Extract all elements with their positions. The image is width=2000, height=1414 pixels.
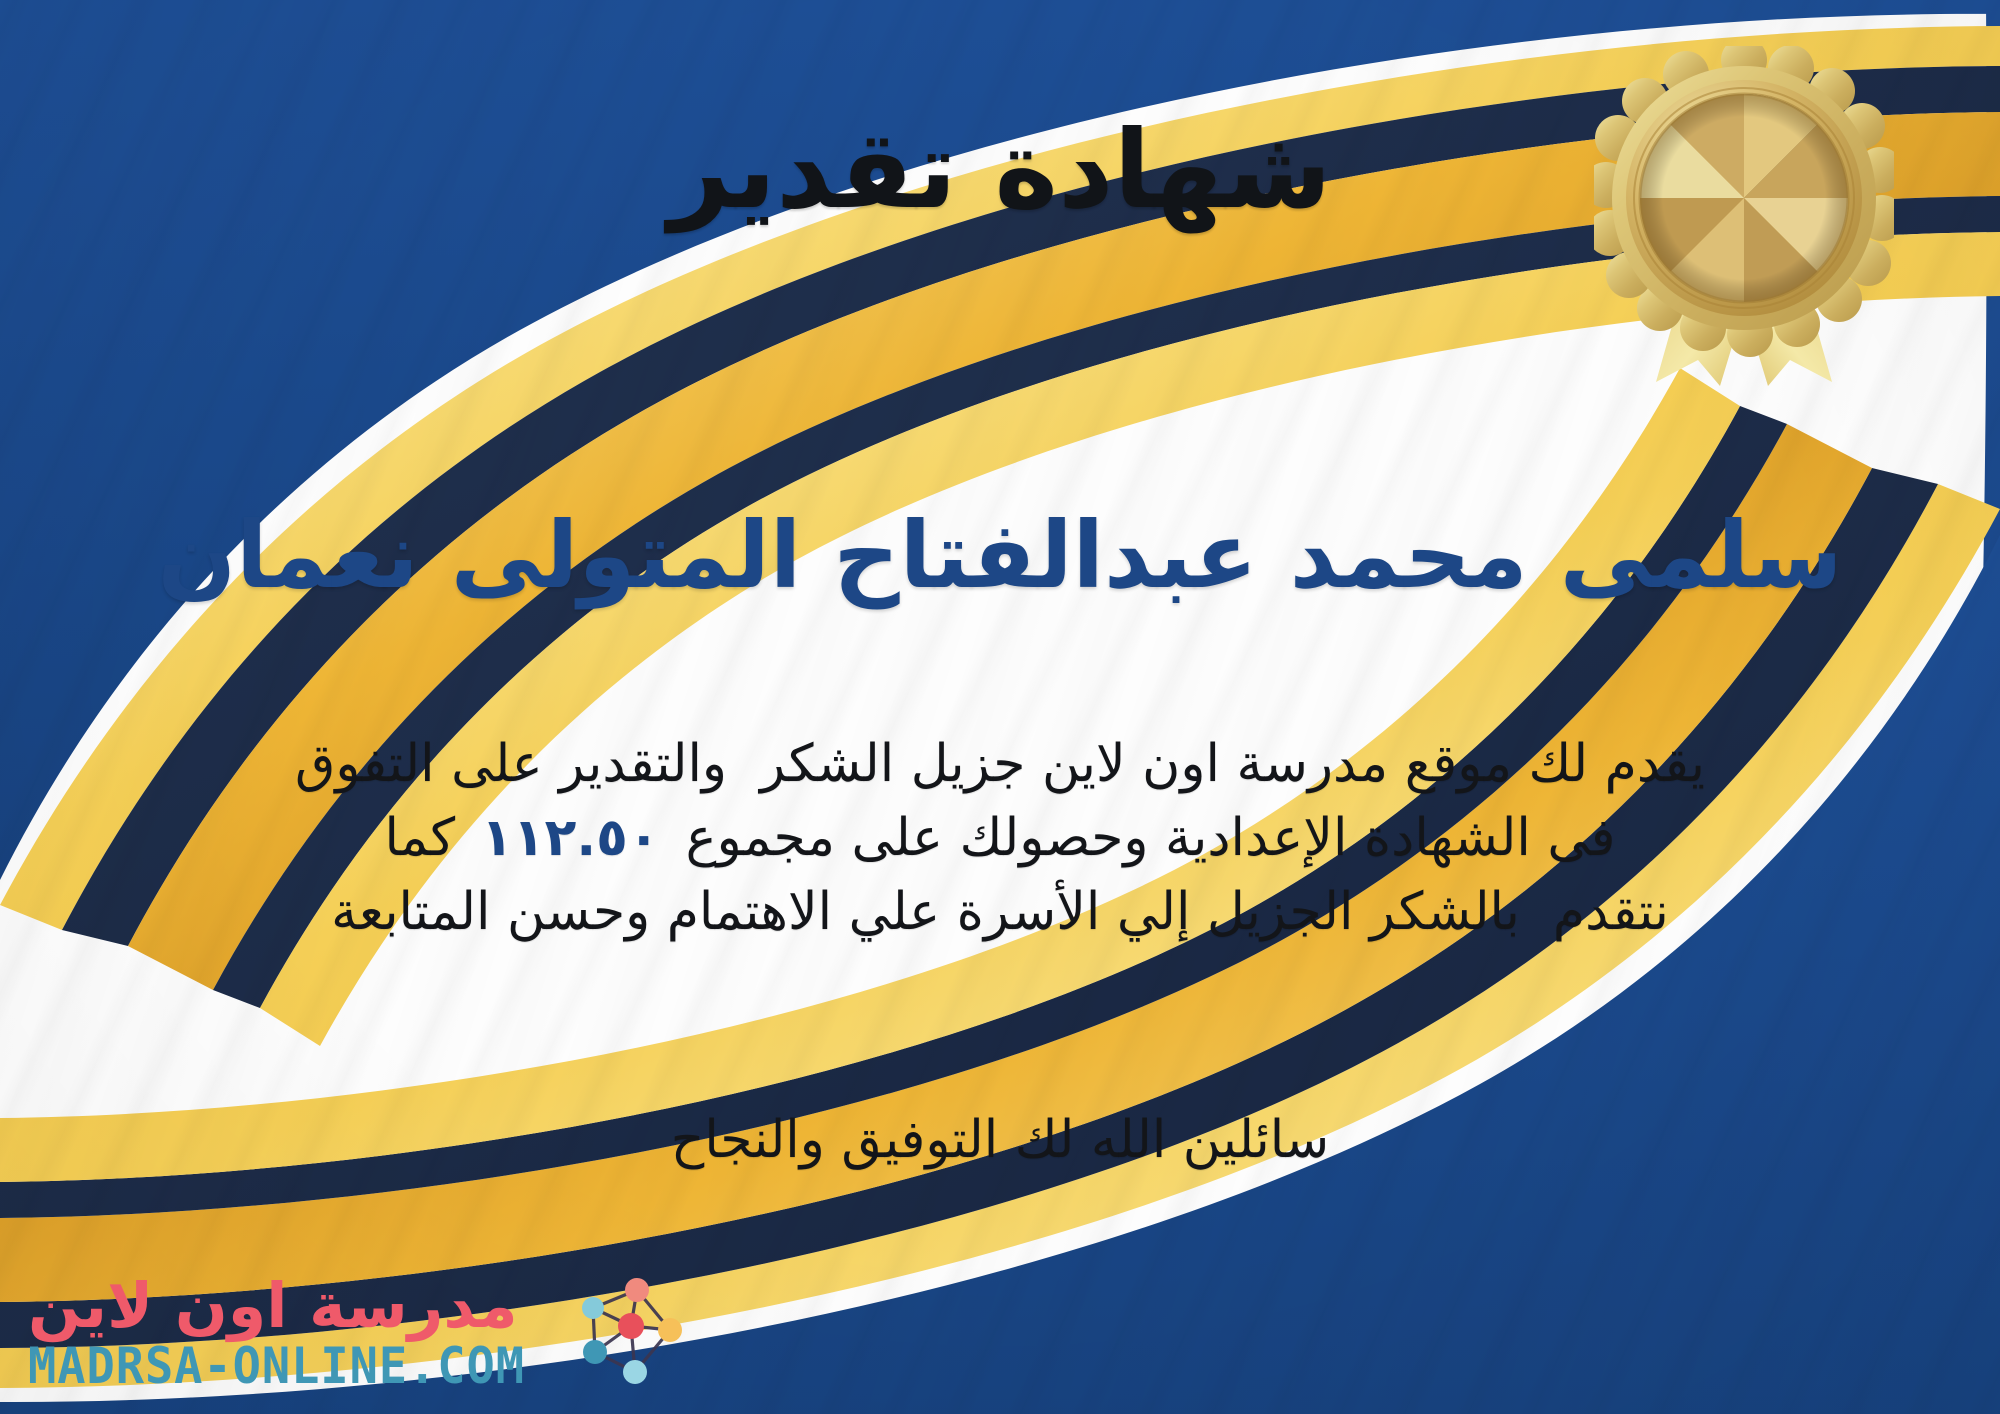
body-line-3: نتقدم بالشكر الجزيل إلي الأسرة علي الاهت… <box>60 876 1940 950</box>
body-line-2-prefix: فى الشهادة الإعدادية وحصولك على مجموع <box>686 808 1616 868</box>
student-name: سلمى محمد عبدالفتاح المتولى نعمان <box>0 503 2000 609</box>
certificate-body: يقدم لك موقع مدرسة اون لاين جزيل الشكر و… <box>60 728 1940 949</box>
network-nodes-icon <box>571 1274 689 1392</box>
body-line-1: يقدم لك موقع مدرسة اون لاين جزيل الشكر و… <box>60 728 1940 802</box>
brand-logo: مدرسة اون لاين MADRSA-ONLINE.COM <box>28 1274 689 1392</box>
closing-line: سائلين الله لك التوفيق والنجاح <box>0 1110 2000 1170</box>
body-line-2-suffix: كما <box>384 808 455 868</box>
certificate-canvas: شهادة تقدير سلمى محمد عبدالفتاح المتولى … <box>0 0 2000 1414</box>
brand-arabic-name: مدرسة اون لاين <box>28 1275 518 1337</box>
body-line-2: فى الشهادة الإعدادية وحصولك على مجموع١١٢… <box>60 802 1940 876</box>
brand-text: مدرسة اون لاين MADRSA-ONLINE.COM <box>28 1275 557 1391</box>
brand-website: MADRSA-ONLINE.COM <box>28 1341 525 1391</box>
page-title: شهادة تقدير <box>0 112 2000 231</box>
score-value: ١١٢.٥٠ <box>455 802 685 876</box>
